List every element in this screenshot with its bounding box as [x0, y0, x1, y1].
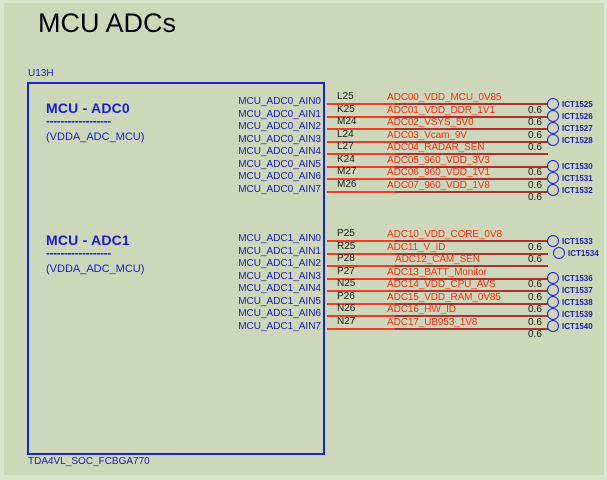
adc0-ict-label: ICT1526	[562, 112, 593, 121]
adc0-net-name: ADC07_960_VDD_1V8	[387, 180, 490, 191]
schematic-sheet: MCU ADCs U13H TDA4VL_SOC_FCBGA770 MCU - …	[0, 0, 607, 480]
block-heading-adc0: MCU - ADC0 ------------------ (VDDA_ADC_…	[46, 100, 144, 143]
adc0-testpoint-value: 0.6	[528, 105, 542, 116]
adc0-ict-label: ICT1527	[562, 124, 593, 133]
adc1-ict-testpoint[interactable]	[547, 272, 559, 284]
adc1-wire-trace	[395, 328, 548, 330]
adc1-pin-name: MCU_ADC1_AIN2	[227, 258, 321, 269]
adc1-testpoint-value: 0.6	[528, 242, 542, 253]
adc1-testpoint-value: 0.6	[528, 317, 542, 328]
adc1-ict-label: ICT1540	[562, 322, 593, 331]
adc1-pin-name: MCU_ADC1_AIN7	[227, 321, 321, 332]
adc1-ict-label: ICT1533	[562, 237, 593, 246]
adc0-wire-trace	[395, 191, 548, 193]
adc0-ict-label: ICT1528	[562, 136, 593, 145]
adc0-pin-name: MCU_ADC0_AIN1	[227, 109, 321, 120]
adc1-net-name: ADC14_VDD_CPU_AVS	[387, 279, 496, 290]
adc1-net-name: ADC15_VDD_RAM_0V85	[387, 292, 501, 303]
block-heading-adc1: MCU - ADC1 ------------------ (VDDA_ADC_…	[46, 232, 144, 275]
adc0-pin-name: MCU_ADC0_AIN2	[227, 121, 321, 132]
adc0-testpoint-value: 0.6	[528, 117, 542, 128]
adc1-ict-testpoint[interactable]	[547, 320, 559, 332]
adc0-net-name: ADC01_VDD_DDR_1V1	[387, 105, 495, 116]
adc1-ict-testpoint[interactable]	[547, 296, 559, 308]
adc1-pin-name: MCU_ADC1_AIN1	[227, 246, 321, 257]
adc1-pin-designator: P25	[337, 228, 355, 239]
adc0-ict-testpoint[interactable]	[547, 134, 559, 146]
adc1-ict-label: ICT1538	[562, 298, 593, 307]
adc1-ict-label: ICT1536	[562, 274, 593, 283]
adc1-ict-testpoint[interactable]	[547, 308, 559, 320]
adc1-pin-name: MCU_ADC1_AIN5	[227, 296, 321, 307]
adc0-pin-name: MCU_ADC0_AIN7	[227, 184, 321, 195]
adc0-pin-name: MCU_ADC0_AIN0	[227, 96, 321, 107]
adc0-pin-designator: M24	[337, 116, 356, 127]
adc0-ict-testpoint[interactable]	[547, 110, 559, 122]
adc1-pin-name: MCU_ADC1_AIN6	[227, 308, 321, 319]
adc1-pin-designator: N25	[337, 278, 355, 289]
block-rule-adc1: ------------------	[46, 249, 144, 257]
sheet-edge-top	[0, 0, 607, 3]
sheet-edge-left	[0, 0, 4, 480]
adc0-pin-designator: M27	[337, 166, 356, 177]
adc1-pin-designator: P26	[337, 291, 355, 302]
adc0-pin-designator: L24	[337, 129, 354, 140]
adc0-pin-designator: K25	[337, 104, 355, 115]
adc1-testpoint-value: 0.6	[528, 279, 542, 290]
adc0-pin-designator: L27	[337, 141, 354, 152]
adc0-net-name: ADC02_VSYS_5V0	[387, 117, 473, 128]
adc1-net-name: ADC11_V_ID	[387, 242, 445, 253]
adc0-ict-testpoint[interactable]	[547, 160, 559, 172]
adc0-testpoint-value: 0.6	[528, 180, 542, 191]
adc0-pin-designator: L25	[337, 91, 354, 102]
adc1-ict-testpoint[interactable]	[553, 247, 565, 259]
adc0-testpoint-value: 0.6	[528, 167, 542, 178]
adc0-ict-testpoint[interactable]	[547, 172, 559, 184]
adc1-testpoint-value: 0.6	[528, 292, 542, 303]
adc0-ict-label: ICT1532	[562, 186, 593, 195]
adc0-ict-testpoint[interactable]	[547, 184, 559, 196]
adc1-pin-name: MCU_ADC1_AIN0	[227, 233, 321, 244]
adc1-testpoint-value-trailing: 0.6	[528, 329, 542, 340]
adc0-ict-label: ICT1525	[562, 100, 593, 109]
adc1-pin-designator: R25	[337, 241, 355, 252]
adc1-net-name: ADC12_CAM_SEN	[395, 254, 480, 265]
adc0-ict-testpoint[interactable]	[547, 98, 559, 110]
component-part-number: TDA4VL_SOC_FCBGA770	[28, 456, 150, 467]
adc0-testpoint-value: 0.6	[528, 130, 542, 141]
adc1-net-name: ADC13_BATT_Monitor	[387, 267, 487, 278]
block-supply-adc1: (VDDA_ADC_MCU)	[46, 263, 144, 275]
adc0-ict-label: ICT1530	[562, 162, 593, 171]
adc1-ict-label: ICT1537	[562, 286, 593, 295]
adc0-testpoint-value: 0.6	[528, 142, 542, 153]
adc0-testpoint-value-trailing: 0.6	[528, 192, 542, 203]
adc1-net-name: ADC10_VDD_CORE_0V8	[387, 229, 502, 240]
adc1-pin-designator: P27	[337, 266, 355, 277]
adc1-testpoint-value: 0.6	[528, 254, 542, 265]
adc1-pin-name: MCU_ADC1_AIN3	[227, 271, 321, 282]
adc0-pin-name: MCU_ADC0_AIN3	[227, 134, 321, 145]
adc1-net-name: ADC16_HW_ID	[387, 304, 456, 315]
adc1-ict-label: ICT1539	[562, 310, 593, 319]
adc0-ict-testpoint[interactable]	[547, 122, 559, 134]
sheet-edge-bottom	[0, 475, 607, 480]
adc1-ict-testpoint[interactable]	[547, 235, 559, 247]
adc0-pin-name: MCU_ADC0_AIN6	[227, 171, 321, 182]
block-rule-adc0: ------------------	[46, 117, 144, 125]
adc0-net-name: ADC06_960_VDD_1V1	[387, 167, 490, 178]
adc1-pin-designator: N26	[337, 303, 355, 314]
adc0-pin-name: MCU_ADC0_AIN5	[227, 159, 321, 170]
component-refdes: U13H	[28, 68, 54, 79]
adc1-pin-designator: N27	[337, 316, 355, 327]
adc1-ict-label: ICT1534	[568, 249, 599, 258]
adc1-pin-name: MCU_ADC1_AIN4	[227, 283, 321, 294]
adc1-pin-designator: P28	[337, 253, 355, 264]
page-title: MCU ADCs	[38, 8, 176, 39]
adc1-ict-testpoint[interactable]	[547, 284, 559, 296]
adc0-net-name: ADC04_RADAR_SEN	[387, 142, 484, 153]
adc1-testpoint-value: 0.6	[528, 304, 542, 315]
adc0-net-name: ADC03_Vcam_9V	[387, 130, 467, 141]
adc0-net-name: ADC00_VDD_MCU_0V85	[387, 92, 501, 103]
adc0-pin-name: MCU_ADC0_AIN4	[227, 146, 321, 157]
adc0-pin-designator: M26	[337, 179, 356, 190]
adc0-pin-designator: K24	[337, 154, 355, 165]
adc1-net-name: ADC17_UB953_1V8	[387, 317, 477, 328]
adc0-ict-label: ICT1531	[562, 174, 593, 183]
block-supply-adc0: (VDDA_ADC_MCU)	[46, 131, 144, 143]
adc0-net-name: ADC05_960_VDD_3V3	[387, 155, 490, 166]
